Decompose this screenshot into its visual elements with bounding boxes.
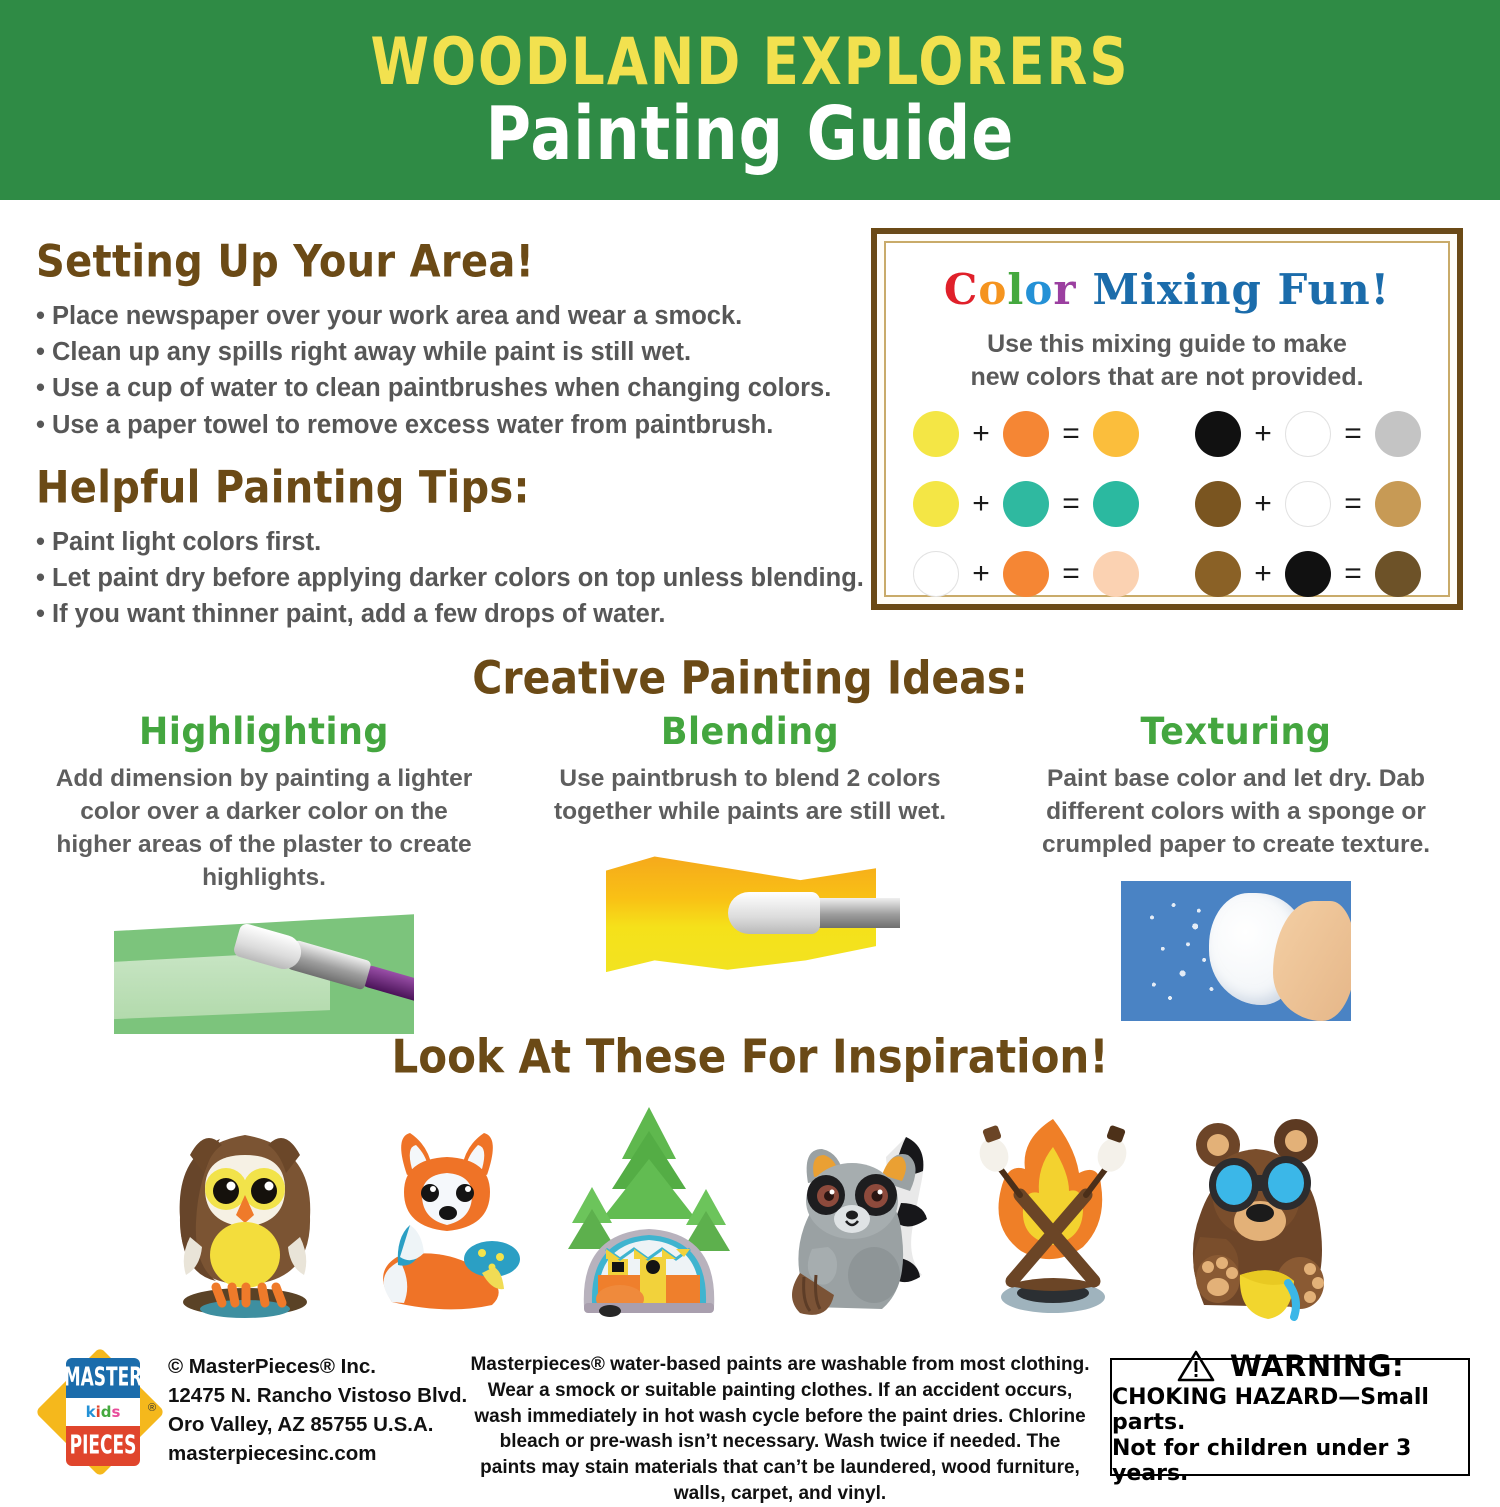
color-swatch-a [913, 481, 959, 527]
color-swatch-a [913, 411, 959, 457]
bullet-dot-icon: • [36, 298, 52, 334]
idea-title: Texturing [1012, 710, 1460, 753]
equals-symbol: = [1060, 557, 1082, 591]
equals-symbol: = [1342, 487, 1364, 521]
page-subtitle: Painting Guide [486, 96, 1015, 170]
bear-figurine-art [1160, 1097, 1350, 1322]
warning-triangle-icon [1176, 1349, 1216, 1383]
bear-figurine [1160, 1097, 1350, 1322]
plus-symbol: + [970, 487, 992, 521]
warning-title-row: WARNING: [1176, 1349, 1404, 1383]
color-swatch-b [1003, 481, 1049, 527]
company-address: © MasterPieces® Inc. 12475 N. Rancho Vis… [168, 1352, 467, 1468]
wash-care-text: Masterpieces® water-based paints are was… [470, 1352, 1090, 1507]
color-mixing-grid: +=+=+= +=+=+= [886, 411, 1448, 597]
color-mix-row: += [1195, 551, 1421, 597]
tips-bullet-list: •Paint light colors first. •Let paint dr… [36, 524, 886, 633]
plus-symbol: + [970, 557, 992, 591]
color-swatch-b [1003, 411, 1049, 457]
page-header: WOODLAND EXPLORERS Painting Guide [0, 0, 1500, 200]
list-item: •If you want thinner paint, add a few dr… [36, 596, 886, 632]
color-mixing-subtitle-line2: new colors that are not provided. [886, 361, 1448, 394]
idea-description: Use paintbrush to blend 2 colors togethe… [526, 762, 974, 828]
logo-bottom-label: PIECES [70, 1431, 137, 1461]
color-mixing-title-colorword: Color [944, 265, 1077, 314]
equals-symbol: = [1342, 557, 1364, 591]
figurine-gallery [150, 1092, 1350, 1322]
color-mixing-column-right: +=+=+= [1195, 411, 1421, 597]
color-swatch-b [1285, 551, 1331, 597]
color-swatch-result [1375, 481, 1421, 527]
idea-blending: Blending Use paintbrush to blend 2 color… [526, 712, 974, 1034]
color-mixing-title: ColorMixing Fun! [886, 265, 1448, 314]
color-swatch-a [1195, 481, 1241, 527]
color-swatch-b [1285, 481, 1331, 527]
idea-highlighting: Highlighting Add dimension by painting a… [40, 712, 488, 1034]
campfire-figurine-art [958, 1097, 1148, 1322]
list-item-label: Paint light colors first. [52, 528, 321, 556]
camper-figurine-art [554, 1097, 744, 1322]
page-title: WOODLAND EXPLORERS [370, 30, 1129, 95]
idea-texturing: Texturing Paint base color and let dry. … [1012, 712, 1460, 1034]
plus-symbol: + [970, 417, 992, 451]
campfire-figurine [958, 1097, 1148, 1322]
color-mix-row: += [1195, 481, 1421, 527]
logo-top-band: MASTER [66, 1358, 140, 1398]
brush-ferrule [806, 898, 900, 928]
equals-symbol: = [1060, 487, 1082, 521]
color-swatch-b [1285, 411, 1331, 457]
color-mix-row: += [1195, 411, 1421, 457]
list-item: •Paint light colors first. [36, 524, 886, 560]
list-item-label: If you want thinner paint, add a few dro… [52, 600, 665, 628]
idea-title: Blending [526, 710, 974, 753]
list-item-label: Use a paper towel to remove excess water… [52, 411, 773, 439]
color-mixing-column-left: +=+=+= [913, 411, 1139, 597]
list-item: •Let paint dry before applying darker co… [36, 560, 886, 596]
company-website[interactable]: masterpiecesinc.com [168, 1439, 467, 1468]
plus-symbol: + [1252, 487, 1274, 521]
color-title-letter: r [1053, 265, 1076, 314]
logo-registered-mark: ® [148, 1402, 156, 1414]
address-line: © MasterPieces® Inc. [168, 1352, 467, 1381]
bullet-dot-icon: • [36, 596, 52, 632]
bullet-dot-icon: • [36, 560, 52, 596]
color-mix-row: += [913, 481, 1139, 527]
address-line: 12475 N. Rancho Vistoso Blvd. [168, 1381, 467, 1410]
tips-heading: Helpful Painting Tips: [36, 462, 886, 514]
color-swatch-result [1093, 411, 1139, 457]
paintbrush-icon [718, 888, 900, 948]
color-swatch-b [1003, 551, 1049, 597]
logo-bottom-band: PIECES [66, 1426, 140, 1466]
equals-symbol: = [1342, 417, 1364, 451]
list-item-label: Let paint dry before applying darker col… [52, 564, 864, 592]
plus-symbol: + [1252, 417, 1274, 451]
color-mixing-subtitle: Use this mixing guide to make new colors… [886, 328, 1448, 393]
color-swatch-result [1375, 551, 1421, 597]
bullet-dot-icon: • [36, 334, 52, 370]
color-title-letter: l [1007, 265, 1024, 314]
warning-title: WARNING: [1230, 1349, 1404, 1383]
color-swatch-result [1093, 481, 1139, 527]
color-mixing-panel: ColorMixing Fun! Use this mixing guide t… [871, 228, 1463, 610]
masterpieces-logo: MASTER kids PIECES ® [48, 1352, 156, 1470]
list-item: •Use a paper towel to remove excess wate… [36, 407, 866, 443]
setup-heading: Setting Up Your Area! [36, 236, 866, 288]
warning-line-3: Not for children under 3 years. [1112, 1436, 1468, 1486]
inspiration-heading: Look At These For Inspiration! [0, 1030, 1500, 1084]
list-item: •Use a cup of water to clean paintbrushe… [36, 370, 866, 406]
painting-guide-page: WOODLAND EXPLORERS Painting Guide Settin… [0, 0, 1500, 1500]
color-mix-row: += [913, 551, 1139, 597]
plus-symbol: + [1252, 557, 1274, 591]
creative-ideas-heading: Creative Painting Ideas: [0, 652, 1500, 705]
color-swatch-a [1195, 551, 1241, 597]
idea-description: Add dimension by painting a lighter colo… [40, 762, 488, 894]
idea-description: Paint base color and let dry. Dab differ… [1012, 762, 1460, 861]
list-item-label: Place newspaper over your work area and … [52, 302, 742, 330]
equals-symbol: = [1060, 417, 1082, 451]
tips-section: Helpful Painting Tips: •Paint light colo… [36, 462, 886, 633]
color-title-letter: C [944, 265, 978, 314]
color-mixing-subtitle-line1: Use this mixing guide to make [886, 328, 1448, 361]
blending-illustration [600, 848, 900, 978]
texturing-illustration [1121, 881, 1351, 1021]
creative-ideas-row: Highlighting Add dimension by painting a… [40, 712, 1460, 1034]
setup-bullet-list: •Place newspaper over your work area and… [36, 298, 866, 443]
idea-title: Highlighting [40, 710, 488, 753]
fox-figurine-art [352, 1097, 542, 1322]
owl-figurine-art [150, 1097, 340, 1322]
address-line: Oro Valley, AZ 85755 U.S.A. [168, 1410, 467, 1439]
bullet-dot-icon: • [36, 370, 52, 406]
logo-top-label: MASTER [66, 1363, 140, 1393]
setup-section: Setting Up Your Area! •Place newspaper o… [36, 236, 866, 443]
brush-bristles [728, 892, 820, 934]
raccoon-figurine [756, 1097, 946, 1322]
warning-box: WARNING: CHOKING HAZARD—Small parts. Not… [1110, 1358, 1470, 1476]
logo-card: MASTER kids PIECES [66, 1358, 140, 1466]
logo-kids-label: kids [86, 1403, 121, 1421]
bullet-dot-icon: • [36, 407, 52, 443]
bullet-dot-icon: • [36, 524, 52, 560]
color-mix-row: += [913, 411, 1139, 457]
list-item-label: Clean up any spills right away while pai… [52, 338, 691, 366]
list-item: •Place newspaper over your work area and… [36, 298, 866, 334]
color-title-letter: o [1024, 265, 1053, 314]
list-item: •Clean up any spills right away while pa… [36, 334, 866, 370]
warning-line-2: CHOKING HAZARD—Small parts. [1112, 1385, 1468, 1435]
color-swatch-a [1195, 411, 1241, 457]
list-item-label: Use a cup of water to clean paintbrushes… [52, 374, 831, 402]
fox-figurine [352, 1097, 542, 1322]
color-swatch-a [913, 551, 959, 597]
color-title-letter: o [978, 265, 1007, 314]
owl-figurine [150, 1097, 340, 1322]
logo-middle-band: kids [66, 1398, 140, 1426]
color-mixing-inner-frame: ColorMixing Fun! Use this mixing guide t… [884, 241, 1450, 597]
camper-figurine [554, 1097, 744, 1322]
highlighting-illustration [114, 914, 414, 1034]
raccoon-figurine-art [756, 1097, 946, 1322]
color-mixing-title-rest: Mixing Fun! [1093, 265, 1391, 314]
brush-bristles [232, 922, 305, 973]
color-swatch-result [1375, 411, 1421, 457]
color-swatch-result [1093, 551, 1139, 597]
